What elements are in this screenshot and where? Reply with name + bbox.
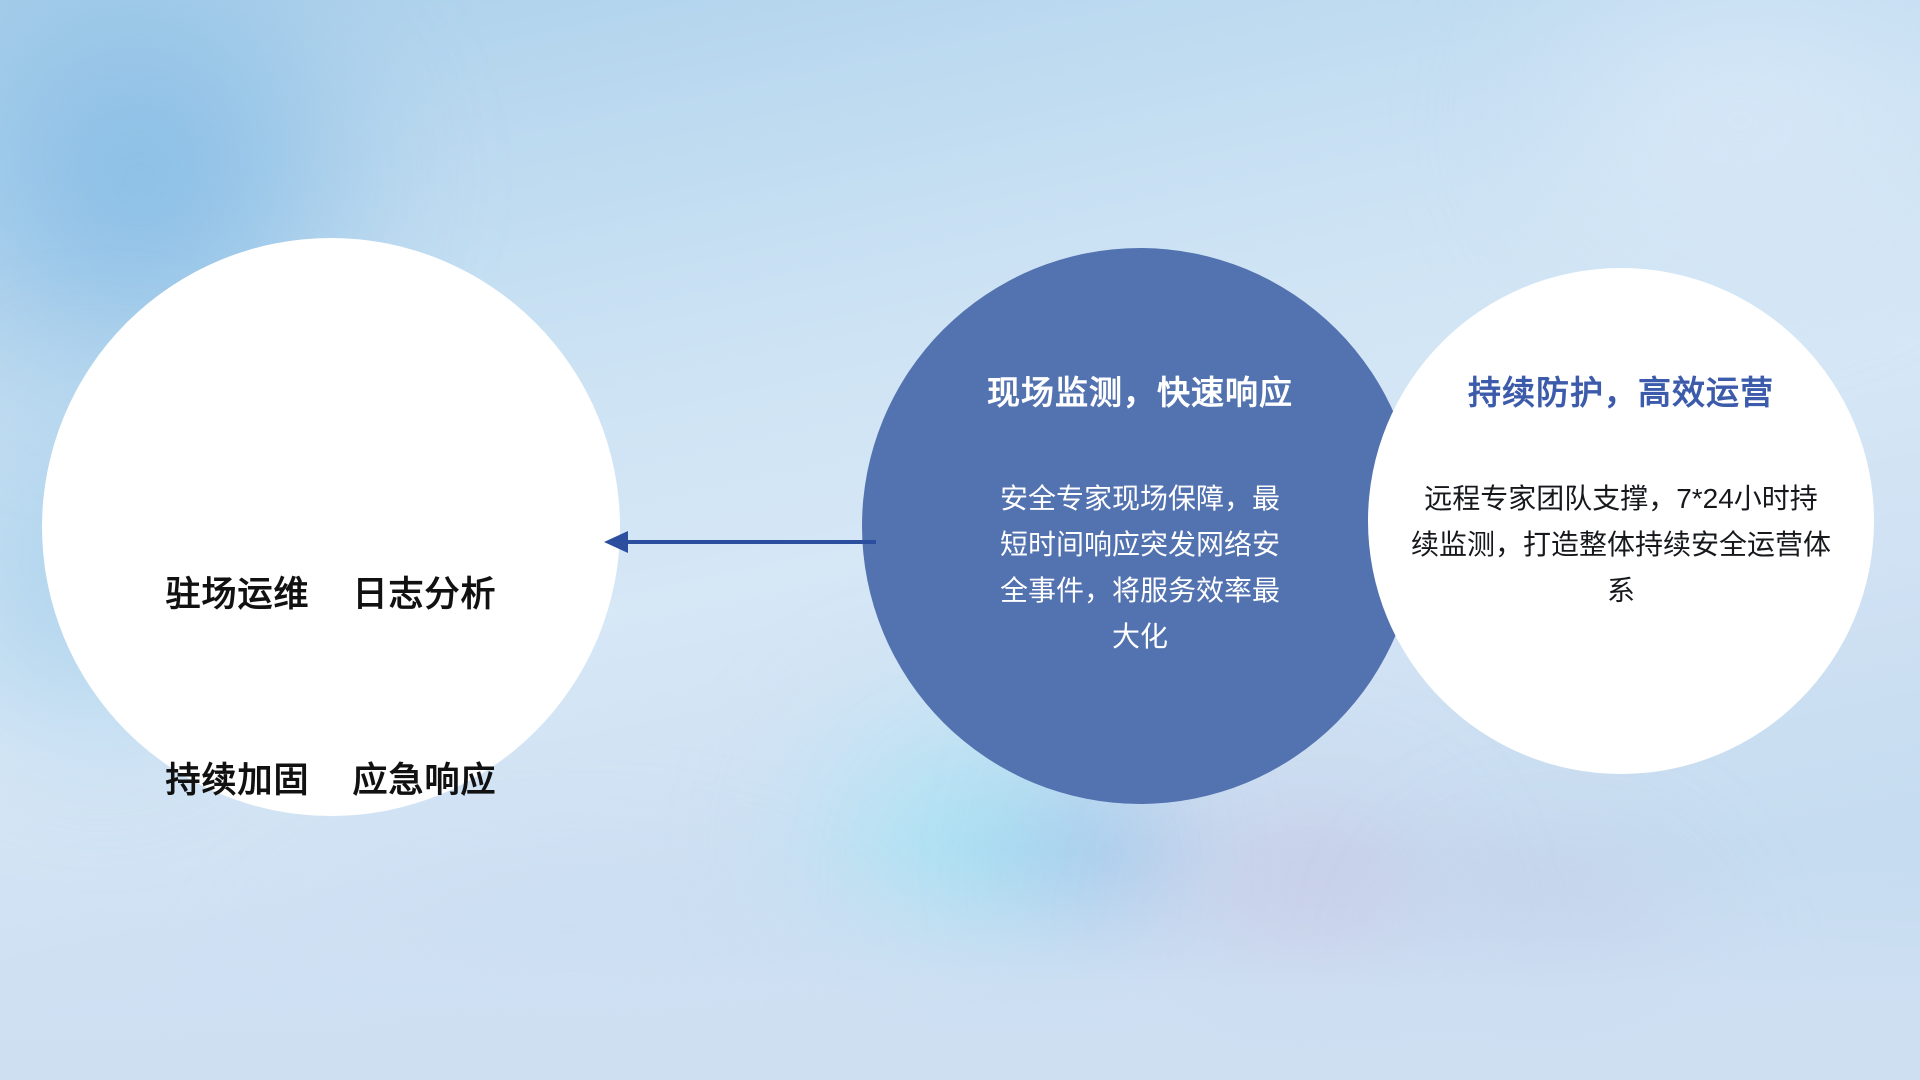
arrow-left-icon [600,512,880,572]
left-circle-line-1: 驻场运维 日志分析 [166,564,497,626]
left-circle-line-2: 持续加固 应急响应 [166,750,497,812]
right-circle-title: 持续防护，高效运营 [1468,366,1774,414]
center-circle-title: 现场监测，快速响应 [987,366,1293,414]
line-spacer [166,936,497,950]
left-circle-line-3: 意识培训 [166,1074,497,1080]
center-circle-content: 现场监测，快速响应 安全专家现场保障，最短时间响应突发网络安全事件，将服务效率最… [862,248,1418,804]
right-circle-body: 远程专家团队支撑，7*24小时持续监测，打造整体持续安全运营体系 [1411,476,1831,614]
slide-canvas: 驻场运维 日志分析 持续加固 应急响应 意识培训 现场监测，快速响应 安全专家现… [0,0,1920,1080]
center-circle-body: 安全专家现场保障，最短时间响应突发网络安全事件，将服务效率最大化 [990,476,1290,660]
left-circle-keyword-list: 驻场运维 日志分析 持续加固 应急响应 意识培训 [166,440,497,1080]
left-circle-content: 驻场运维 日志分析 持续加固 应急响应 意识培训 [42,238,620,816]
right-circle-content: 持续防护，高效运营 远程专家团队支撑，7*24小时持续监测，打造整体持续安全运营… [1368,268,1874,774]
